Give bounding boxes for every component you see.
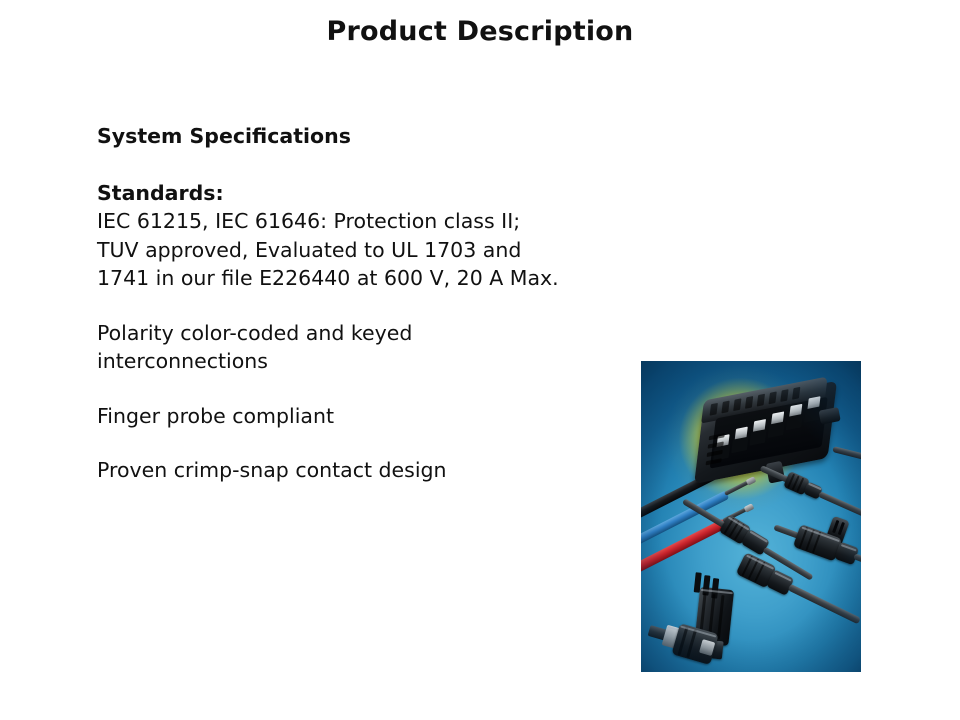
page-title: Product Description (0, 16, 960, 47)
feature-crimp-snap-contact-design: Proven crimp-snap contact design (97, 456, 627, 485)
spacer (97, 151, 627, 179)
feature-finger-probe-compliant: Finger probe compliant (97, 402, 627, 431)
spacer (97, 430, 627, 456)
section-heading-system-specifications: System Specifications (97, 122, 627, 151)
spacer (97, 376, 627, 402)
slide: Product Description System Specification… (0, 0, 960, 720)
standards-label: Standards: (97, 179, 627, 208)
spacer (97, 293, 627, 319)
photo-vignette (641, 361, 861, 672)
standards-text: IEC 61215, IEC 61646: Protection class I… (97, 207, 627, 293)
product-photo (641, 361, 861, 672)
feature-polarity-color-coded: Polarity color-coded and keyed interconn… (97, 319, 627, 376)
specifications-text-block: System Specifications Standards: IEC 612… (97, 122, 627, 485)
